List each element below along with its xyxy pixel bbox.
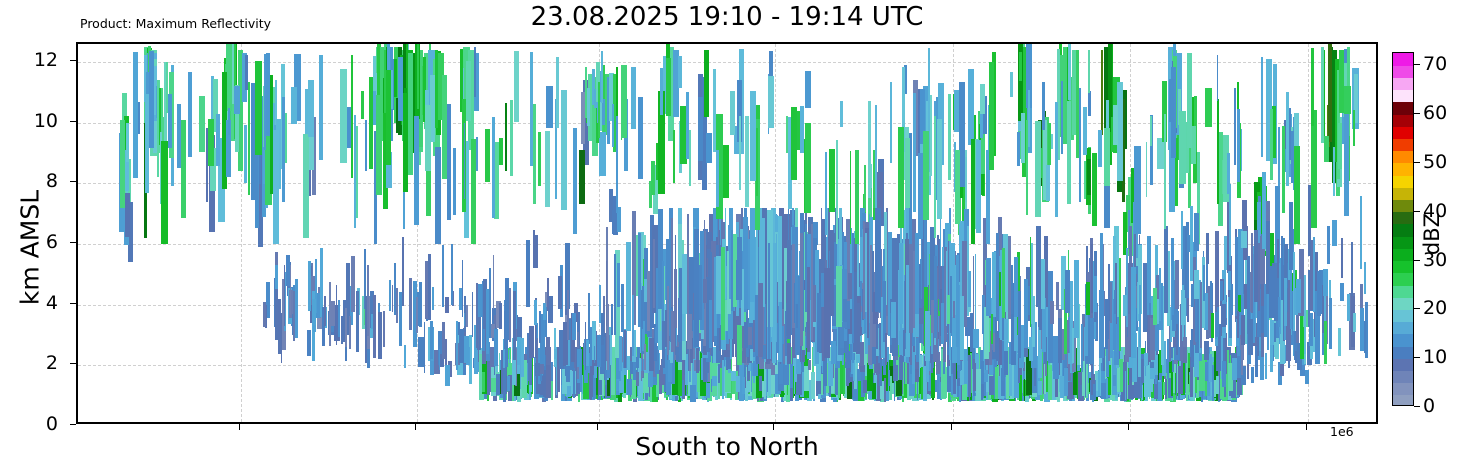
reflectivity-column bbox=[627, 379, 633, 395]
reflectivity-column bbox=[1024, 379, 1026, 401]
reflectivity-column bbox=[804, 366, 809, 391]
reflectivity-column bbox=[731, 230, 733, 312]
reflectivity-column bbox=[462, 364, 466, 375]
reflectivity-column bbox=[968, 271, 971, 308]
reflectivity-column bbox=[718, 364, 720, 383]
reflectivity-column bbox=[750, 91, 755, 181]
reflectivity-column bbox=[1146, 142, 1148, 197]
colorbar-segment bbox=[1393, 383, 1413, 396]
reflectivity-column bbox=[1311, 110, 1317, 228]
reflectivity-column bbox=[1244, 284, 1248, 309]
reflectivity-column bbox=[1241, 315, 1245, 345]
page-title: 23.08.2025 19:10 - 19:14 UTC bbox=[76, 2, 1378, 32]
reflectivity-column bbox=[394, 59, 397, 98]
reflectivity-column bbox=[1364, 262, 1366, 294]
reflectivity-column bbox=[956, 255, 959, 347]
reflectivity-column bbox=[776, 234, 778, 342]
reflectivity-column bbox=[539, 311, 541, 343]
reflectivity-column bbox=[1067, 320, 1069, 353]
reflectivity-column bbox=[1114, 290, 1116, 314]
reflectivity-column bbox=[676, 347, 679, 362]
colorbar-tick-label: 0 bbox=[1423, 395, 1435, 417]
reflectivity-column bbox=[1014, 257, 1018, 317]
reflectivity-column bbox=[356, 126, 358, 218]
reflectivity-column bbox=[1175, 260, 1179, 309]
reflectivity-column bbox=[612, 210, 617, 234]
reflectivity-column bbox=[962, 384, 967, 400]
reflectivity-column bbox=[1101, 50, 1103, 135]
colorbar-tick-label: 20 bbox=[1423, 297, 1447, 319]
reflectivity-column bbox=[843, 299, 847, 322]
reflectivity-column bbox=[188, 72, 192, 157]
reflectivity-column bbox=[1141, 359, 1143, 384]
colorbar-tick bbox=[1414, 406, 1420, 407]
reflectivity-column bbox=[607, 304, 609, 369]
reflectivity-column bbox=[1098, 371, 1100, 396]
reflectivity-column bbox=[527, 363, 529, 385]
reflectivity-column bbox=[1296, 279, 1301, 313]
reflectivity-column bbox=[1251, 367, 1255, 383]
reflectivity-column bbox=[888, 370, 890, 386]
reflectivity-column bbox=[1169, 79, 1174, 122]
reflectivity-column bbox=[466, 61, 470, 121]
reflectivity-column bbox=[852, 233, 854, 343]
reflectivity-column bbox=[918, 153, 923, 239]
reflectivity-column bbox=[1329, 298, 1332, 348]
reflectivity-column bbox=[885, 333, 887, 365]
reflectivity-column bbox=[1042, 82, 1045, 130]
reflectivity-column bbox=[439, 349, 441, 370]
reflectivity-column bbox=[1068, 42, 1070, 100]
reflectivity-column bbox=[1205, 88, 1211, 127]
reflectivity-column bbox=[1038, 381, 1043, 394]
colorbar-segment bbox=[1393, 370, 1413, 383]
reflectivity-column bbox=[1228, 271, 1231, 290]
reflectivity-column bbox=[418, 337, 423, 367]
reflectivity-column bbox=[1289, 202, 1293, 269]
reflectivity-column bbox=[594, 366, 597, 378]
reflectivity-column bbox=[853, 389, 859, 401]
x-axis-tick bbox=[1128, 424, 1129, 430]
reflectivity-column bbox=[1210, 281, 1212, 310]
reflectivity-column bbox=[759, 376, 762, 391]
reflectivity-column bbox=[879, 323, 882, 349]
reflectivity-column bbox=[1094, 276, 1097, 312]
reflectivity-column bbox=[1217, 247, 1220, 306]
reflectivity-column bbox=[1353, 110, 1355, 146]
y-axis-tick bbox=[70, 303, 76, 304]
colorbar-tick bbox=[1414, 113, 1420, 114]
reflectivity-column bbox=[373, 295, 376, 357]
reflectivity-column bbox=[1106, 378, 1109, 398]
reflectivity-column bbox=[1131, 267, 1136, 358]
reflectivity-column bbox=[737, 325, 741, 365]
reflectivity-column bbox=[616, 116, 618, 213]
reflectivity-column bbox=[1229, 184, 1231, 265]
reflectivity-column bbox=[499, 138, 503, 165]
reflectivity-column bbox=[365, 296, 368, 363]
colorbar-segment bbox=[1393, 358, 1413, 371]
reflectivity-column bbox=[1098, 130, 1103, 167]
reflectivity-column bbox=[1251, 233, 1253, 313]
reflectivity-column bbox=[1221, 304, 1226, 327]
reflectivity-column bbox=[340, 69, 346, 162]
reflectivity-column bbox=[941, 303, 944, 344]
colorbar-tick bbox=[1414, 64, 1420, 65]
reflectivity-column bbox=[599, 285, 601, 323]
reflectivity-column bbox=[476, 137, 479, 170]
reflectivity-column bbox=[1113, 375, 1116, 386]
reflectivity-column bbox=[471, 139, 476, 245]
reflectivity-column bbox=[673, 130, 675, 182]
colorbar-segment bbox=[1393, 248, 1413, 261]
reflectivity-column bbox=[745, 116, 749, 207]
reflectivity-column bbox=[445, 297, 449, 313]
x-axis-tick bbox=[773, 424, 774, 430]
reflectivity-column bbox=[758, 283, 764, 356]
reflectivity-column bbox=[442, 322, 444, 359]
reflectivity-column bbox=[1099, 290, 1104, 358]
reflectivity-column bbox=[678, 56, 683, 87]
reflectivity-column bbox=[1282, 126, 1286, 213]
reflectivity-column bbox=[587, 88, 590, 126]
reflectivity-column bbox=[1028, 90, 1030, 147]
reflectivity-column bbox=[425, 105, 431, 171]
reflectivity-column bbox=[1269, 266, 1274, 318]
reflectivity-column bbox=[1194, 213, 1199, 252]
reflectivity-column bbox=[1222, 361, 1226, 387]
reflectivity-column bbox=[893, 365, 898, 381]
reflectivity-column bbox=[264, 54, 267, 150]
reflectivity-column bbox=[1067, 101, 1071, 203]
reflectivity-column bbox=[266, 282, 270, 319]
reflectivity-column bbox=[808, 360, 811, 370]
reflectivity-column bbox=[435, 147, 441, 244]
reflectivity-column bbox=[1051, 134, 1054, 149]
reflectivity-column bbox=[741, 269, 744, 326]
reflectivity-column bbox=[1010, 72, 1012, 97]
reflectivity-column bbox=[996, 331, 998, 361]
reflectivity-column bbox=[1261, 57, 1264, 157]
reflectivity-column bbox=[712, 376, 717, 386]
reflectivity-column bbox=[1163, 382, 1165, 396]
reflectivity-column bbox=[830, 230, 835, 315]
reflectivity-column bbox=[275, 289, 278, 341]
reflectivity-column bbox=[1117, 367, 1119, 392]
reflectivity-column bbox=[1134, 146, 1140, 234]
reflectivity-column bbox=[1287, 263, 1289, 288]
reflectivity-column bbox=[1237, 311, 1239, 337]
reflectivity-column bbox=[425, 261, 428, 319]
reflectivity-column bbox=[424, 322, 426, 373]
reflectivity-column bbox=[514, 51, 519, 122]
reflectivity-column bbox=[829, 149, 835, 212]
y-axis-tick bbox=[70, 60, 76, 61]
reflectivity-column bbox=[666, 58, 671, 115]
reflectivity-column bbox=[1241, 231, 1246, 248]
y-axis-tick-label: 12 bbox=[34, 49, 58, 71]
colorbar-tick-label: 60 bbox=[1423, 102, 1447, 124]
reflectivity-column bbox=[145, 94, 149, 193]
reflectivity-column bbox=[285, 113, 288, 163]
reflectivity-column bbox=[756, 128, 758, 196]
reflectivity-column bbox=[234, 86, 240, 114]
reflectivity-column bbox=[1305, 370, 1309, 384]
reflectivity-column bbox=[1265, 353, 1267, 379]
reflectivity-column bbox=[653, 239, 655, 308]
reflectivity-column bbox=[913, 251, 915, 328]
reflectivity-column bbox=[967, 334, 968, 361]
reflectivity-column bbox=[612, 104, 614, 147]
reflectivity-column bbox=[491, 378, 497, 392]
reflectivity-column bbox=[1187, 53, 1192, 148]
reflectivity-column bbox=[577, 367, 579, 380]
reflectivity-column bbox=[1113, 105, 1118, 144]
reflectivity-column bbox=[667, 286, 668, 355]
reflectivity-column bbox=[1217, 99, 1219, 204]
reflectivity-column bbox=[389, 280, 391, 311]
reflectivity-column bbox=[869, 214, 871, 323]
reflectivity-column bbox=[1092, 374, 1095, 384]
reflectivity-column bbox=[485, 129, 490, 181]
reflectivity-column bbox=[417, 42, 419, 109]
reflectivity-column bbox=[828, 361, 832, 386]
reflectivity-column bbox=[762, 381, 764, 397]
reflectivity-column bbox=[1291, 131, 1293, 183]
x-axis-tick bbox=[597, 424, 598, 430]
reflectivity-column bbox=[709, 300, 712, 347]
reflectivity-column bbox=[1171, 266, 1173, 319]
reflectivity-column bbox=[1324, 321, 1328, 364]
reflectivity-column bbox=[905, 138, 910, 208]
reflectivity-column bbox=[1304, 275, 1306, 353]
reflectivity-column bbox=[694, 229, 699, 347]
reflectivity-column bbox=[1046, 165, 1049, 201]
reflectivity-column bbox=[255, 61, 261, 156]
reflectivity-column bbox=[492, 117, 495, 218]
reflectivity-column bbox=[1155, 324, 1159, 351]
reflectivity-column bbox=[953, 301, 955, 318]
reflectivity-column bbox=[430, 321, 433, 359]
reflectivity-column bbox=[513, 291, 517, 360]
reflectivity-column bbox=[361, 91, 364, 120]
reflectivity-column bbox=[1125, 340, 1129, 362]
reflectivity-column bbox=[1143, 263, 1147, 332]
reflectivity-column bbox=[308, 80, 314, 136]
reflectivity-column bbox=[494, 329, 497, 366]
colorbar-tick-label: 50 bbox=[1423, 151, 1447, 173]
reflectivity-column bbox=[601, 51, 603, 103]
reflectivity-column bbox=[161, 141, 167, 244]
y-axis-tick-label: 6 bbox=[46, 231, 58, 253]
reflectivity-column bbox=[1278, 297, 1280, 327]
reflectivity-column bbox=[863, 380, 867, 392]
reflectivity-column bbox=[1324, 136, 1329, 161]
reflectivity-column bbox=[598, 82, 600, 138]
reflectivity-column bbox=[597, 335, 600, 366]
reflectivity-column bbox=[1203, 265, 1205, 301]
reflectivity-column bbox=[1190, 206, 1193, 281]
colorbar-segment bbox=[1393, 114, 1413, 127]
reflectivity-column bbox=[892, 238, 897, 356]
reflectivity-column bbox=[660, 68, 663, 115]
reflectivity-column bbox=[428, 254, 431, 319]
reflectivity-column bbox=[1273, 323, 1276, 342]
reflectivity-column bbox=[1311, 48, 1313, 126]
reflectivity-column bbox=[1058, 318, 1062, 362]
reflectivity-column bbox=[453, 148, 456, 214]
reflectivity-column bbox=[293, 291, 295, 341]
reflectivity-column bbox=[705, 360, 710, 373]
colorbar-segment bbox=[1393, 309, 1413, 322]
reflectivity-column bbox=[168, 94, 172, 149]
reflectivity-column bbox=[1164, 226, 1168, 313]
reflectivity-column bbox=[1294, 146, 1300, 244]
reflectivity-column bbox=[1104, 128, 1109, 186]
reflectivity-column bbox=[631, 67, 636, 129]
reflectivity-column bbox=[1092, 153, 1097, 226]
reflectivity-column bbox=[864, 165, 866, 212]
reflectivity-column bbox=[464, 313, 465, 326]
reflectivity-column bbox=[606, 261, 607, 326]
colorbar-tick bbox=[1414, 308, 1420, 309]
reflectivity-column bbox=[273, 130, 279, 244]
reflectivity-column bbox=[934, 256, 937, 339]
colorbar-segment bbox=[1393, 322, 1413, 335]
reflectivity-column bbox=[1308, 289, 1310, 328]
reflectivity-column bbox=[1277, 239, 1279, 278]
reflectivity-column bbox=[534, 300, 537, 324]
reflectivity-column bbox=[1086, 282, 1090, 315]
reflectivity-column bbox=[903, 330, 905, 355]
reflectivity-column bbox=[459, 329, 464, 363]
reflectivity-column bbox=[690, 385, 696, 401]
reflectivity-column bbox=[1286, 92, 1289, 186]
reflectivity-column bbox=[1181, 211, 1183, 269]
reflectivity-column bbox=[1224, 236, 1227, 270]
colorbar-tick bbox=[1414, 211, 1420, 212]
reflectivity-column bbox=[996, 233, 1000, 321]
reflectivity-column bbox=[971, 139, 974, 244]
reflectivity-column bbox=[538, 132, 541, 185]
reflectivity-column bbox=[1254, 230, 1257, 302]
reflectivity-column bbox=[529, 326, 533, 359]
reflectivity-column bbox=[800, 106, 803, 153]
reflectivity-column bbox=[890, 376, 892, 399]
reflectivity-column bbox=[753, 361, 757, 376]
reflectivity-column bbox=[748, 327, 752, 345]
reflectivity-column bbox=[748, 239, 750, 310]
reflectivity-column bbox=[383, 311, 385, 347]
x-axis-tick bbox=[1306, 424, 1307, 430]
y-axis-tick-label: 4 bbox=[46, 292, 58, 314]
colorbar-segment bbox=[1393, 285, 1413, 298]
reflectivity-column bbox=[1238, 294, 1241, 312]
y-axis-tick bbox=[70, 181, 76, 182]
reflectivity-column bbox=[797, 111, 800, 150]
reflectivity-column bbox=[621, 65, 627, 138]
reflectivity-column bbox=[678, 298, 681, 342]
reflectivity-column bbox=[824, 268, 830, 358]
reflectivity-column bbox=[890, 82, 892, 163]
reflectivity-column bbox=[1338, 328, 1342, 356]
reflectivity-column bbox=[120, 120, 124, 207]
reflectivity-column bbox=[464, 123, 466, 199]
colorbar bbox=[1392, 52, 1414, 406]
reflectivity-column bbox=[284, 265, 285, 325]
colorbar-segment bbox=[1393, 199, 1413, 212]
reflectivity-column bbox=[414, 116, 419, 224]
reflectivity-column bbox=[509, 288, 511, 342]
reflectivity-column bbox=[787, 343, 791, 364]
reflectivity-column bbox=[125, 193, 129, 238]
reflectivity-column bbox=[1119, 258, 1122, 351]
reflectivity-column bbox=[561, 90, 567, 210]
reflectivity-column bbox=[1017, 132, 1020, 166]
reflectivity-column bbox=[989, 62, 994, 169]
reflectivity-column bbox=[409, 278, 412, 330]
reflectivity-column bbox=[1021, 113, 1025, 163]
reflectivity-column bbox=[1234, 88, 1236, 165]
reflectivity-column bbox=[868, 101, 871, 197]
reflectivity-column bbox=[577, 332, 579, 348]
reflectivity-column bbox=[1205, 362, 1207, 381]
reflectivity-column bbox=[1032, 296, 1035, 347]
reflectivity-column bbox=[687, 214, 689, 329]
reflectivity-column bbox=[533, 230, 536, 261]
reflectivity-column bbox=[394, 263, 396, 315]
reflectivity-column bbox=[891, 302, 896, 338]
reflectivity-column bbox=[840, 101, 842, 127]
reflectivity-column bbox=[1087, 159, 1091, 195]
reflectivity-column bbox=[1159, 268, 1162, 321]
reflectivity-column bbox=[295, 279, 298, 337]
reflectivity-column bbox=[546, 337, 550, 365]
reflectivity-column bbox=[1183, 347, 1187, 363]
reflectivity-column bbox=[984, 370, 988, 381]
reflectivity-column bbox=[1270, 320, 1274, 345]
reflectivity-column bbox=[376, 95, 382, 194]
reflectivity-column bbox=[309, 135, 314, 170]
colorbar-segment bbox=[1393, 126, 1413, 139]
reflectivity-column bbox=[1041, 259, 1045, 309]
reflectivity-column bbox=[349, 316, 351, 348]
reflectivity-column bbox=[621, 284, 624, 332]
reflectivity-column bbox=[925, 311, 929, 361]
reflectivity-column bbox=[1339, 50, 1344, 114]
reflectivity-column bbox=[442, 75, 447, 180]
reflectivity-column bbox=[737, 237, 741, 300]
reflectivity-column bbox=[1056, 282, 1059, 310]
reflectivity-column bbox=[365, 120, 367, 171]
reflectivity-column bbox=[308, 261, 311, 311]
reflectivity-column bbox=[1164, 114, 1166, 229]
reflectivity-column bbox=[811, 224, 814, 340]
reflectivity-column bbox=[731, 371, 736, 381]
reflectivity-column bbox=[831, 341, 836, 364]
reflectivity-column bbox=[742, 377, 745, 394]
reflectivity-column bbox=[968, 355, 971, 397]
reflectivity-column bbox=[572, 313, 576, 341]
reflectivity-column bbox=[706, 133, 712, 163]
reflectivity-column bbox=[1091, 244, 1093, 313]
reflectivity-column bbox=[791, 107, 797, 180]
reflectivity-column bbox=[1150, 116, 1152, 145]
reflectivity-column bbox=[1341, 238, 1343, 278]
radar-cross-section-figure: 23.08.2025 19:10 - 19:14 UTC Product: Ma… bbox=[0, 0, 1482, 470]
reflectivity-column bbox=[594, 346, 596, 363]
reflectivity-column bbox=[1313, 237, 1315, 311]
